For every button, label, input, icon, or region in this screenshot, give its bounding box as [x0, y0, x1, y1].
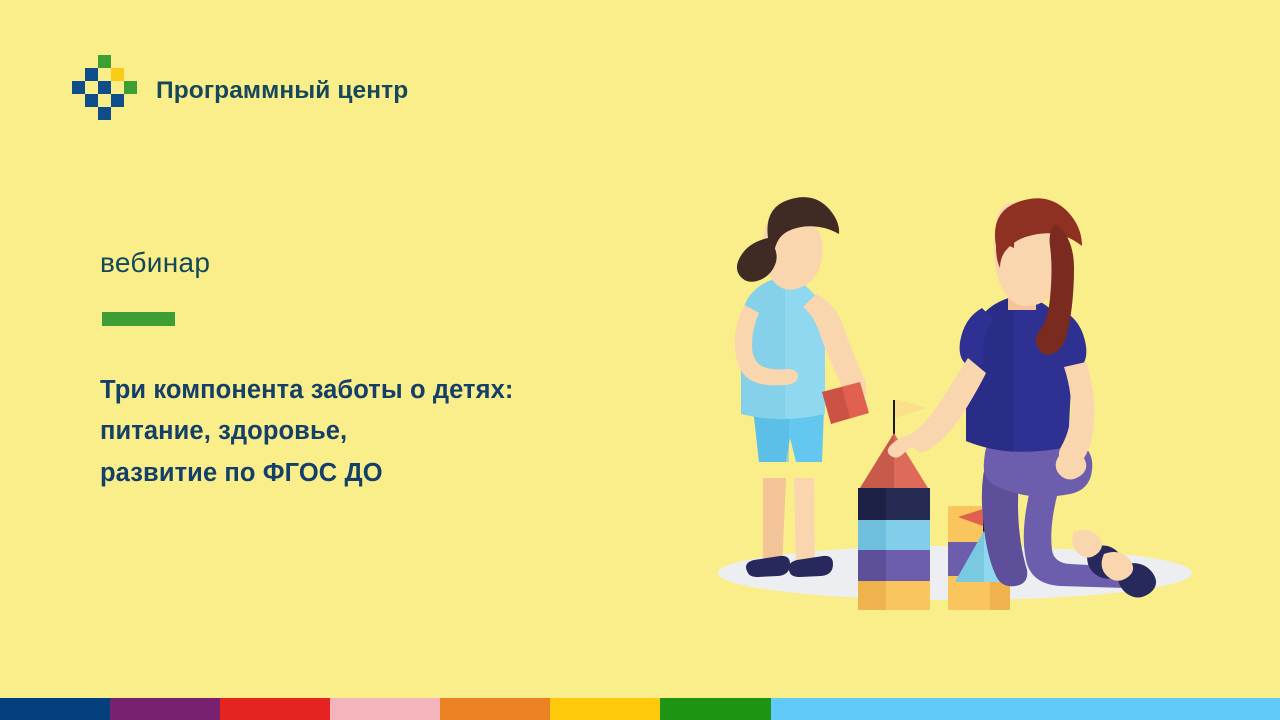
- logo-cell-1: [85, 68, 98, 81]
- stripe-green: [660, 698, 771, 720]
- bottom-color-stripes: [0, 698, 1280, 720]
- stripe-pink: [330, 698, 440, 720]
- illustration-woman-and-girl-playing-with-blocks: [690, 190, 1220, 610]
- tower-block-2-shade: [858, 520, 886, 550]
- girl-leg-front: [794, 478, 815, 568]
- tower-roof-shade: [860, 433, 894, 488]
- tower-flag: [895, 399, 927, 418]
- stripe-navy: [0, 698, 110, 720]
- tower-block-4-shade: [858, 581, 886, 610]
- logo-cell-2: [111, 68, 124, 81]
- logo-cell-3: [72, 81, 85, 94]
- tower-block-3-shade: [858, 550, 886, 581]
- logo-cell-5: [124, 81, 137, 94]
- stripe-yellow: [550, 698, 660, 720]
- accent-bar: [102, 312, 175, 326]
- checkerboard-diamond-logo-icon: [72, 55, 138, 125]
- girl-figure: [735, 197, 869, 577]
- kicker-label: вебинар: [100, 248, 210, 279]
- brand-logo[interactable]: Программный центр: [72, 55, 408, 125]
- stripe-red: [220, 698, 330, 720]
- logo-cell-4: [98, 81, 111, 94]
- girl-leg-back: [763, 478, 786, 568]
- stripe-light-blue: [771, 698, 1280, 720]
- slide-canvas: Программный центр вебинар Три компонента…: [0, 0, 1280, 720]
- logo-cell-6: [85, 94, 98, 107]
- logo-cell-0: [98, 55, 111, 68]
- page-title: Три компонента заботы о детях: питание, …: [100, 370, 700, 494]
- tower-flag-pole: [893, 400, 895, 438]
- headline-line-1: Три компонента заботы о детях:: [100, 370, 700, 411]
- logo-cell-7: [111, 94, 124, 107]
- stripe-purple: [110, 698, 220, 720]
- logo-cell-8: [98, 107, 111, 120]
- headline-line-2: питание, здоровье,: [100, 411, 700, 452]
- stripe-orange: [440, 698, 550, 720]
- tower-block-1-shade: [858, 488, 886, 520]
- brand-name: Программный центр: [156, 79, 408, 104]
- headline-line-3: развитие по ФГОС ДО: [100, 453, 700, 494]
